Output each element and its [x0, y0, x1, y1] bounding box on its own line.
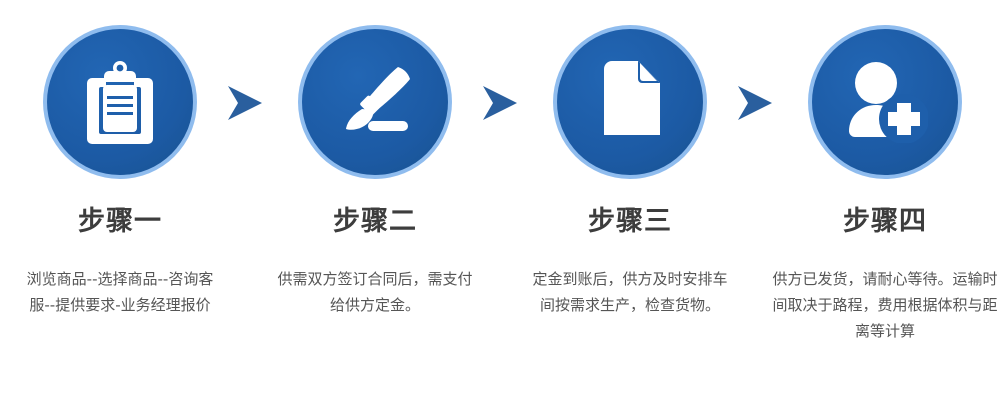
- step-4-title: 步骤四: [765, 205, 1000, 239]
- step-2-title: 步骤二: [255, 205, 495, 239]
- step-1-badge: [43, 25, 197, 179]
- user-add-icon: [808, 25, 962, 179]
- clipboard-icon: [43, 25, 197, 179]
- step-1-title: 步骤一: [0, 205, 240, 239]
- step-2-badge: [298, 25, 452, 179]
- step-3-badge: [553, 25, 707, 179]
- paintbrush-icon: [298, 25, 452, 179]
- process-step-4: 步骤四 供方已发货，请耐心等待。运输时间取决于路程，费用根据体积与距离等计算: [765, 0, 1000, 400]
- process-step-1: 步骤一 浏览商品--选择商品--咨询客服--提供要求-业务经理报价: [0, 0, 240, 400]
- process-step-2: 步骤二 供需双方签订合同后，需支付给供方定金。: [255, 0, 495, 400]
- step-3-description: 定金到账后，供方及时安排车间按需求生产，检查货物。: [528, 266, 732, 318]
- process-flow-diagram: 步骤一 浏览商品--选择商品--咨询客服--提供要求-业务经理报价: [0, 0, 1000, 400]
- step-4-description: 供方已发货，请耐心等待。运输时间取决于路程，费用根据体积与距离等计算: [771, 266, 999, 344]
- step-3-title: 步骤三: [510, 205, 750, 239]
- process-step-3: 步骤三 定金到账后，供方及时安排车间按需求生产，检查货物。: [510, 0, 750, 400]
- document-icon: [553, 25, 707, 179]
- step-2-description: 供需双方签订合同后，需支付给供方定金。: [273, 266, 477, 318]
- step-1-description: 浏览商品--选择商品--咨询客服--提供要求-业务经理报价: [18, 266, 222, 318]
- step-4-badge: [808, 25, 962, 179]
